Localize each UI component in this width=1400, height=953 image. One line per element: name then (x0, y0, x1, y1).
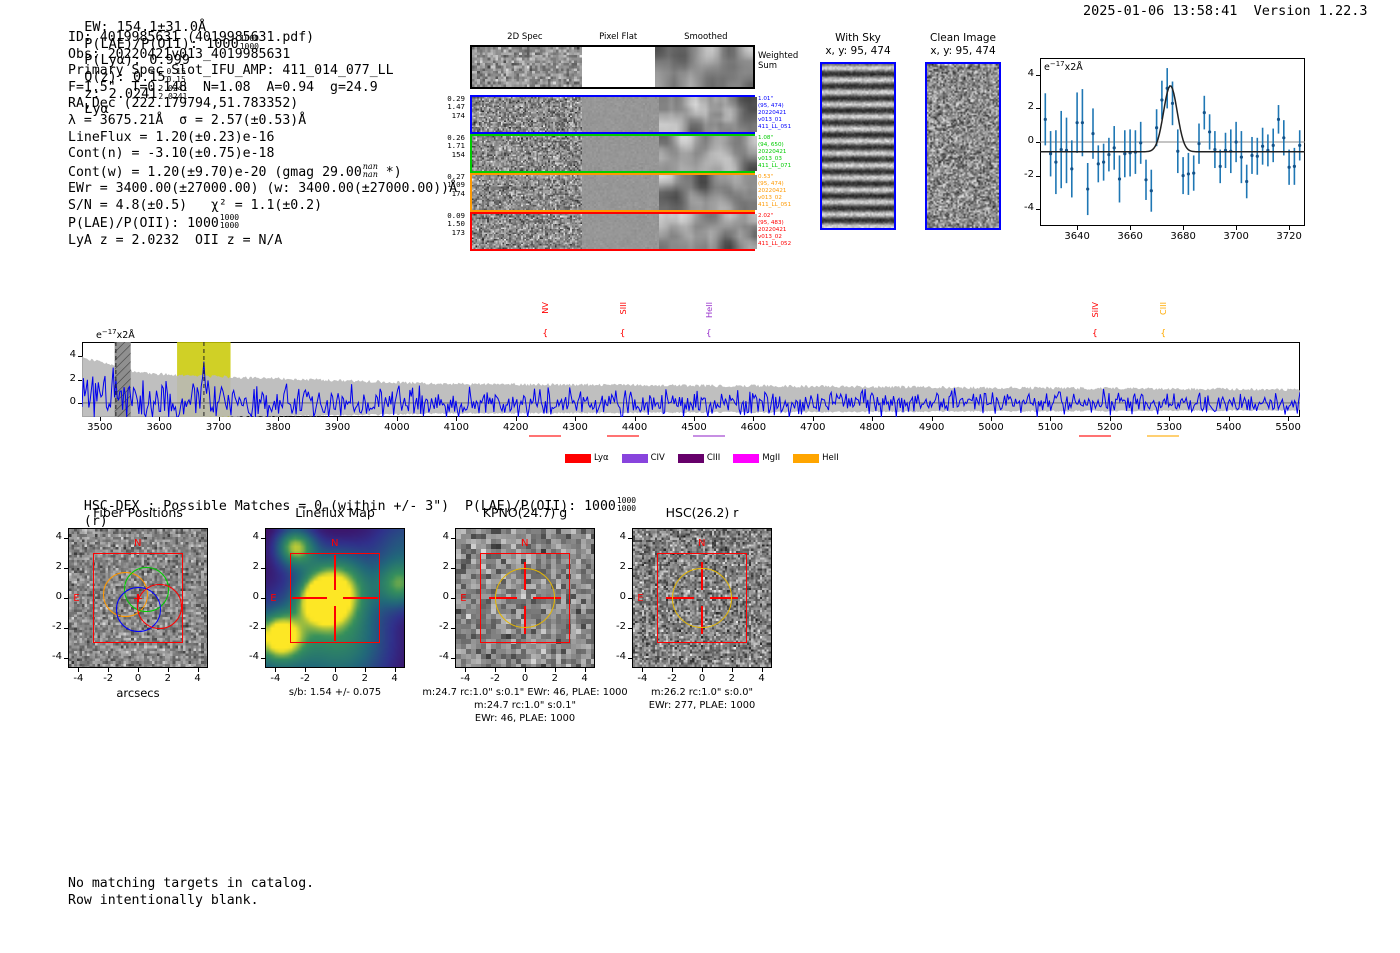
y-tick-label: -4 (40, 651, 62, 662)
y-tick-label: 4 (604, 531, 626, 542)
x-tick-label: 4 (183, 673, 213, 684)
cutout-caption: s/b: 1.54 +/- 0.075 (225, 687, 445, 699)
x-tick (672, 668, 673, 672)
y-tick (64, 568, 68, 569)
x-tick (365, 668, 366, 672)
x-tick-label: 0 (123, 673, 153, 684)
y-tick (64, 628, 68, 629)
compass-east-label: E (637, 593, 643, 604)
photometry-aperture-circle (672, 568, 732, 628)
x-tick-label: 2 (540, 673, 570, 684)
x-tick-label: -2 (480, 673, 510, 684)
y-tick-label: 4 (40, 531, 62, 542)
y-tick-label: 2 (40, 561, 62, 572)
footer-line-1: No matching targets in catalog. (68, 875, 314, 892)
y-tick-label: -4 (604, 651, 626, 662)
x-tick-label: -4 (63, 673, 93, 684)
fiber-aperture-circle (137, 584, 182, 629)
y-tick-label: 0 (604, 591, 626, 602)
y-tick (64, 658, 68, 659)
x-tick (305, 668, 306, 672)
y-tick (64, 598, 68, 599)
cutout-title: Fiber Positions (28, 505, 248, 520)
x-tick (525, 668, 526, 672)
y-tick-label: 4 (237, 531, 259, 542)
compass-north-label: N (698, 538, 705, 549)
x-tick-label: -2 (657, 673, 687, 684)
y-tick (451, 598, 455, 599)
x-tick (395, 668, 396, 672)
y-tick-label: -4 (237, 651, 259, 662)
x-tick-label: 0 (320, 673, 350, 684)
y-tick (261, 628, 265, 629)
x-tick (732, 668, 733, 672)
y-tick-label: -2 (40, 621, 62, 632)
x-tick (138, 668, 139, 672)
footer-notes: No matching targets in catalog. Row inte… (68, 875, 314, 909)
x-tick (642, 668, 643, 672)
x-tick-label: -4 (450, 673, 480, 684)
y-tick (261, 598, 265, 599)
y-tick (628, 658, 632, 659)
compass-north-label: N (331, 538, 338, 549)
cutout-caption-line2: EWr: 277, PLAE: 1000 (592, 700, 812, 712)
y-tick-label: 0 (427, 591, 449, 602)
x-tick (555, 668, 556, 672)
x-tick (275, 668, 276, 672)
x-tick (495, 668, 496, 672)
x-tick-label: 2 (153, 673, 183, 684)
y-tick (261, 568, 265, 569)
x-tick-label: 4 (380, 673, 410, 684)
cutout-caption-line2: EWr: 46, PLAE: 1000 (415, 713, 635, 725)
x-tick-label: -2 (290, 673, 320, 684)
y-tick (628, 568, 632, 569)
x-tick (168, 668, 169, 672)
y-tick-label: 2 (604, 561, 626, 572)
x-tick (465, 668, 466, 672)
y-tick (451, 568, 455, 569)
x-tick (335, 668, 336, 672)
y-tick-label: 4 (427, 531, 449, 542)
compass-east-label: E (270, 593, 276, 604)
center-crosshair (334, 555, 335, 590)
x-tick (762, 668, 763, 672)
y-tick (451, 628, 455, 629)
footer-line-2: Row intentionally blank. (68, 892, 314, 909)
x-tick (108, 668, 109, 672)
cutout-caption-line1: m:26.2 rc:1.0" s:0.0" (592, 687, 812, 699)
cutout-title: Lineflux Map (225, 505, 445, 520)
y-tick-label: -2 (237, 621, 259, 632)
x-tick (198, 668, 199, 672)
x-tick-label: -4 (627, 673, 657, 684)
y-tick (628, 628, 632, 629)
y-tick-label: -2 (427, 621, 449, 632)
compass-north-label: N (521, 538, 528, 549)
x-tick-label: 4 (747, 673, 777, 684)
x-tick (585, 668, 586, 672)
y-tick-label: -2 (604, 621, 626, 632)
center-crosshair (343, 597, 378, 598)
center-crosshair (334, 606, 335, 641)
x-tick-label: -2 (93, 673, 123, 684)
compass-east-label: E (460, 593, 466, 604)
x-tick-label: -4 (260, 673, 290, 684)
photometry-aperture-circle (495, 568, 555, 628)
cutout-panels: Fiber PositionsNE-4-2024420-2-4arcsecsLi… (0, 0, 1400, 953)
y-tick-label: 2 (237, 561, 259, 572)
y-tick (451, 658, 455, 659)
y-tick (451, 538, 455, 539)
x-tick-label: 4 (570, 673, 600, 684)
y-tick (628, 598, 632, 599)
compass-north-label: N (134, 538, 141, 549)
y-tick (261, 658, 265, 659)
center-crosshair (292, 597, 327, 598)
y-tick (261, 538, 265, 539)
y-tick-label: 0 (237, 591, 259, 602)
cutout-title: HSC(26.2) r (592, 505, 812, 520)
y-tick-label: 2 (427, 561, 449, 572)
cutout-xlabel: arcsecs (28, 687, 248, 699)
y-tick (64, 538, 68, 539)
y-tick-label: 0 (40, 591, 62, 602)
compass-east-label: E (73, 593, 79, 604)
y-tick (628, 538, 632, 539)
x-tick-label: 0 (687, 673, 717, 684)
y-tick-label: -4 (427, 651, 449, 662)
x-tick (78, 668, 79, 672)
x-tick-label: 2 (717, 673, 747, 684)
x-tick-label: 0 (510, 673, 540, 684)
x-tick-label: 2 (350, 673, 380, 684)
x-tick (702, 668, 703, 672)
